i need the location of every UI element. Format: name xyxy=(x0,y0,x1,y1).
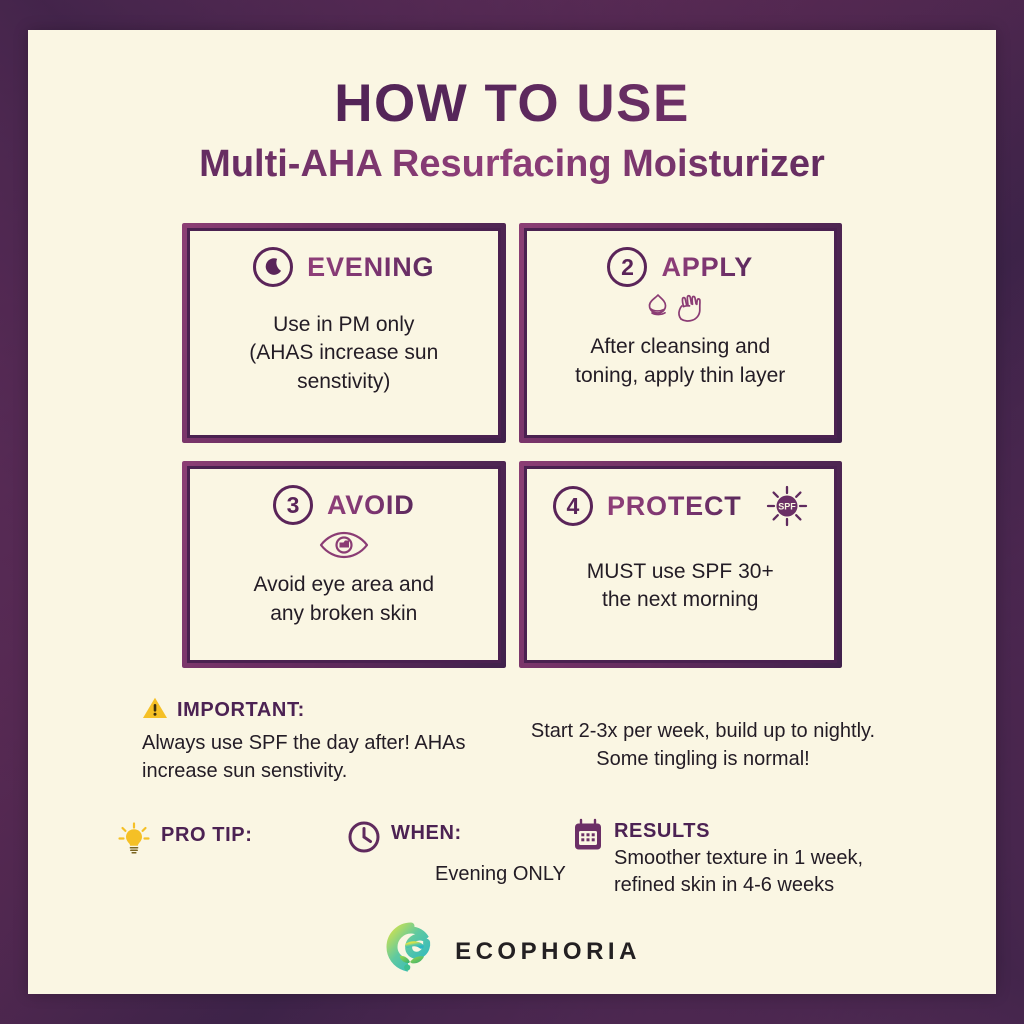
lightbulb-icon xyxy=(117,822,151,861)
protip-label: PRO TIP: xyxy=(161,822,252,849)
protip-item: PRO TIP: xyxy=(117,816,347,861)
results-label: RESULTS xyxy=(614,818,863,845)
step-card-title: EVENING xyxy=(307,252,434,283)
step-number-badge: 4 xyxy=(553,486,593,526)
step-card-body: After cleansing and toning, apply thin l… xyxy=(575,333,785,389)
frequency-text: Start 2-3x per week, build up to nightly… xyxy=(524,718,882,773)
spf-sun-icon: SPF xyxy=(766,485,808,527)
infographic-canvas: HOW TO USE Multi-AHA Resurfacing Moistur… xyxy=(28,30,996,994)
clock-icon xyxy=(347,820,381,859)
ecophoria-leaf-logo xyxy=(383,921,439,982)
important-note: IMPORTANT: Always use SPF the day after!… xyxy=(142,696,494,785)
calendar-icon xyxy=(572,818,604,857)
step-card-title: AVOID xyxy=(327,490,415,521)
step-card-body: Use in PM only (AHAS increase sun sensti… xyxy=(249,311,438,395)
step-card-title: APPLY xyxy=(661,252,753,283)
important-label: IMPORTANT: xyxy=(177,699,305,722)
results-item: RESULTS Smoother texture in 1 week, refi… xyxy=(572,816,907,899)
results-value: Smoother texture in 1 week, refined skin… xyxy=(614,845,863,899)
important-text: Always use SPF the day after! AHAs incre… xyxy=(142,730,494,785)
when-value: Evening ONLY xyxy=(435,861,566,888)
page-subtitle: Multi-AHA Resurfacing Moisturizer xyxy=(28,144,996,186)
when-item: WHEN: Evening ONLY xyxy=(347,816,572,888)
step-number-badge: 3 xyxy=(273,485,313,525)
step-card-body: Avoid eye area and any broken skin xyxy=(253,571,434,627)
svg-text:SPF: SPF xyxy=(778,502,796,512)
step-card-title: PROTECT xyxy=(607,491,742,522)
when-label: WHEN: xyxy=(391,820,566,847)
step-card-protect[interactable]: 4 PROTECT xyxy=(519,461,843,668)
brand-name: ECOPHORIA xyxy=(455,938,641,966)
notes-section: IMPORTANT: Always use SPF the day after!… xyxy=(142,696,882,785)
step-card-apply[interactable]: 2 APPLY xyxy=(519,223,843,443)
step-number-badge: 2 xyxy=(607,247,647,287)
frequency-note: Start 2-3x per week, build up to nightly… xyxy=(524,696,882,773)
brand-logo: ECOPHORIA xyxy=(28,921,996,982)
hand-lotion-icon xyxy=(643,291,717,323)
page-title: HOW TO USE xyxy=(28,76,996,132)
moon-icon xyxy=(253,247,293,287)
step-card-avoid[interactable]: 3 AVOID Avoid eye area and any broken sk… xyxy=(182,461,506,668)
steps-grid: EVENING Use in PM only (AHAS increase su… xyxy=(182,223,842,668)
meta-row: PRO TIP: WHEN: Evening ONLY xyxy=(117,816,907,899)
warning-triangle-icon xyxy=(142,696,168,725)
header: HOW TO USE Multi-AHA Resurfacing Moistur… xyxy=(28,30,996,185)
eye-icon xyxy=(318,529,370,561)
step-card-evening[interactable]: EVENING Use in PM only (AHAS increase su… xyxy=(182,223,506,443)
step-card-body: MUST use SPF 30+ the next morning xyxy=(587,558,774,614)
